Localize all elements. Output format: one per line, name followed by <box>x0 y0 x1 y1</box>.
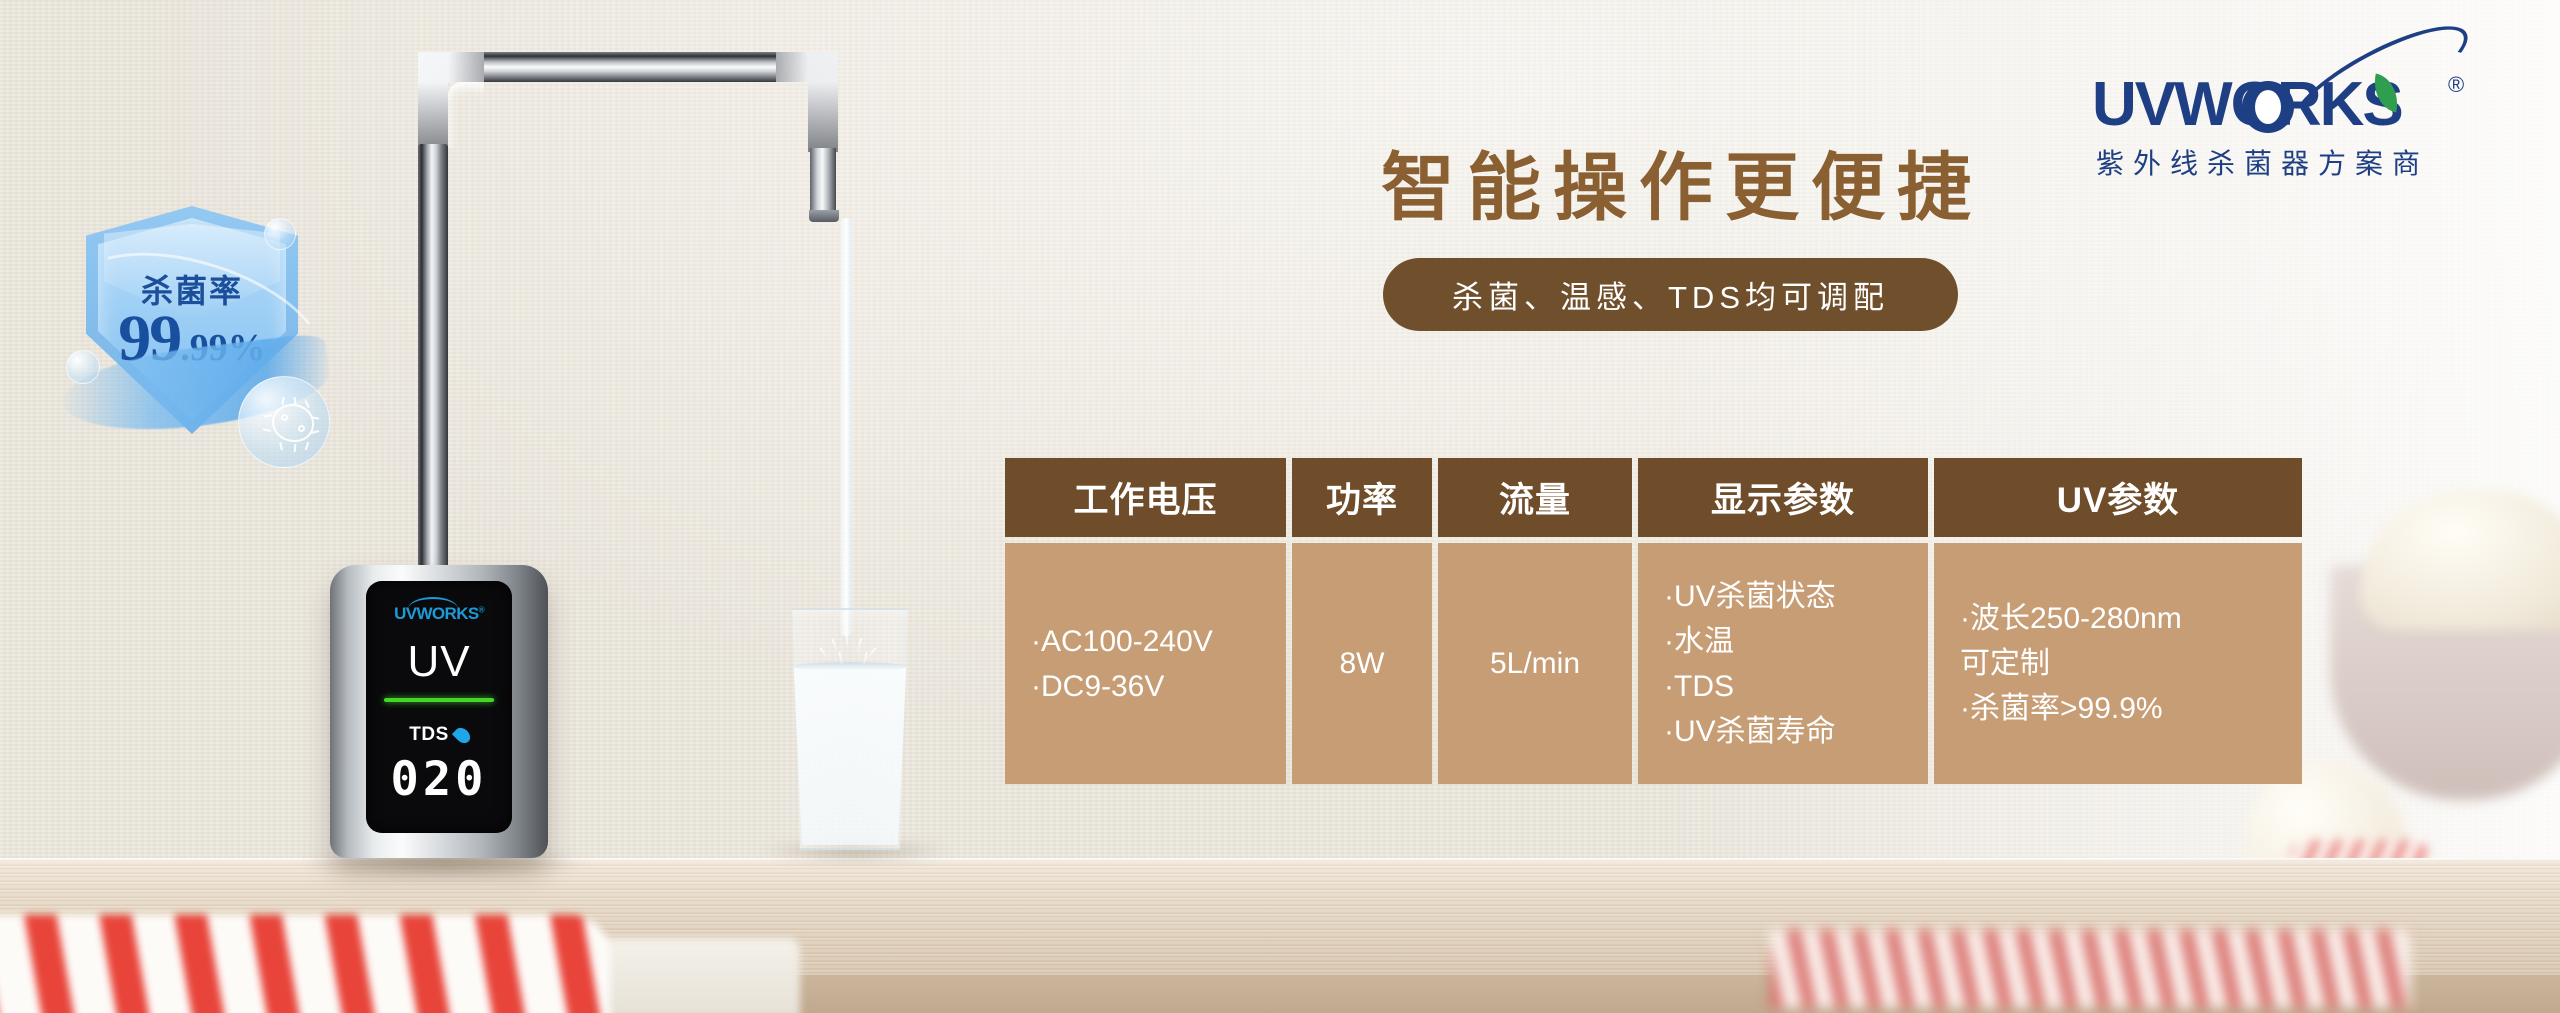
brand-logo: UVWORKS ® 紫外线杀菌器方案商 <box>2090 48 2480 176</box>
device-mode-label: UV <box>407 640 470 684</box>
spec-line: ·UV杀菌寿命 <box>1664 709 1836 754</box>
product-banner: UVWORKS® UV TDS 020 杀菌率 99.99% <box>0 0 2560 1013</box>
spec-line: ·UV杀菌状态 <box>1664 574 1836 619</box>
faucet-corner-left-highlight <box>418 52 484 148</box>
spec-header-flow-rate: 流量 <box>1438 458 1632 537</box>
spec-line: 可定制 <box>1960 641 2050 686</box>
bacteria-icon <box>272 404 314 442</box>
device-status-bar <box>384 698 494 702</box>
spec-line: ·水温 <box>1664 619 1734 664</box>
spec-line: ·AC100-240V <box>1031 619 1213 664</box>
spec-cell-power: 8W <box>1292 543 1432 784</box>
spec-line: ·波长250-280nm <box>1960 596 2182 641</box>
device-tds-row: TDS <box>409 724 469 746</box>
device-screen-logo: UVWORKS® <box>394 604 484 624</box>
striped-cloth-mid-prop <box>1770 930 2410 1008</box>
spec-line: ·杀菌率>99.9% <box>1960 686 2163 731</box>
logo-arc-icon <box>408 597 458 609</box>
striped-cloth-left-prop <box>0 915 610 1013</box>
spec-line: 5L/min <box>1490 641 1580 686</box>
spec-header-power: 功率 <box>1292 458 1432 537</box>
chrome-faucet <box>418 52 838 612</box>
faucet-corner-right <box>776 52 838 152</box>
bubble-icon <box>66 350 100 384</box>
water-drop-icon <box>452 724 473 745</box>
spec-table: 工作电压 功率 流量 显示参数 UV参数 ·AC100-240V ·DC9-36… <box>1005 458 2298 778</box>
spec-line: ·DC9-36V <box>1031 664 1164 709</box>
device-tds-value: 020 <box>391 756 488 803</box>
spec-line: ·TDS <box>1664 664 1734 709</box>
faucet-spout <box>810 148 836 216</box>
bubble-icon <box>264 218 296 250</box>
spec-header-uv-params: UV参数 <box>1934 458 2302 537</box>
registered-trademark-icon: ® <box>2448 72 2464 98</box>
water-splash <box>820 634 882 668</box>
device-logo-registered: ® <box>479 605 484 614</box>
page-title: 智能操作更便捷 <box>1381 128 1983 235</box>
spec-cell-uv-params: ·波长250-280nm 可定制 ·杀菌率>99.9% <box>1934 543 2302 784</box>
glass-water-fill <box>790 665 910 845</box>
device-tds-label: TDS <box>409 724 449 746</box>
spec-header-working-voltage: 工作电压 <box>1005 458 1286 537</box>
device-screen: UVWORKS® UV TDS 020 <box>366 581 512 833</box>
spec-header-display-params: 显示参数 <box>1638 458 1928 537</box>
spec-line: 8W <box>1340 641 1385 686</box>
feature-pill-label: 杀菌、温感、TDS均可调配 <box>1452 272 1889 317</box>
spec-cell-working-voltage: ·AC100-240V ·DC9-36V <box>1005 543 1286 784</box>
uv-device: UVWORKS® UV TDS 020 <box>330 565 548 858</box>
spec-cell-flow-rate: 5L/min <box>1438 543 1632 784</box>
faucet-vertical-column <box>418 144 448 614</box>
water-stream <box>840 218 853 636</box>
faucet-outlet <box>809 210 839 222</box>
feature-pill: 杀菌、温感、TDS均可调配 <box>1383 258 1958 331</box>
sterilization-rate-badge: 杀菌率 99.99% <box>58 198 348 488</box>
sunburst-icon <box>2242 81 2294 133</box>
spec-cell-display-params: ·UV杀菌状态 ·水温 ·TDS ·UV杀菌寿命 <box>1638 543 1928 784</box>
brand-tagline: 紫外线杀菌器方案商 <box>2096 142 2429 182</box>
